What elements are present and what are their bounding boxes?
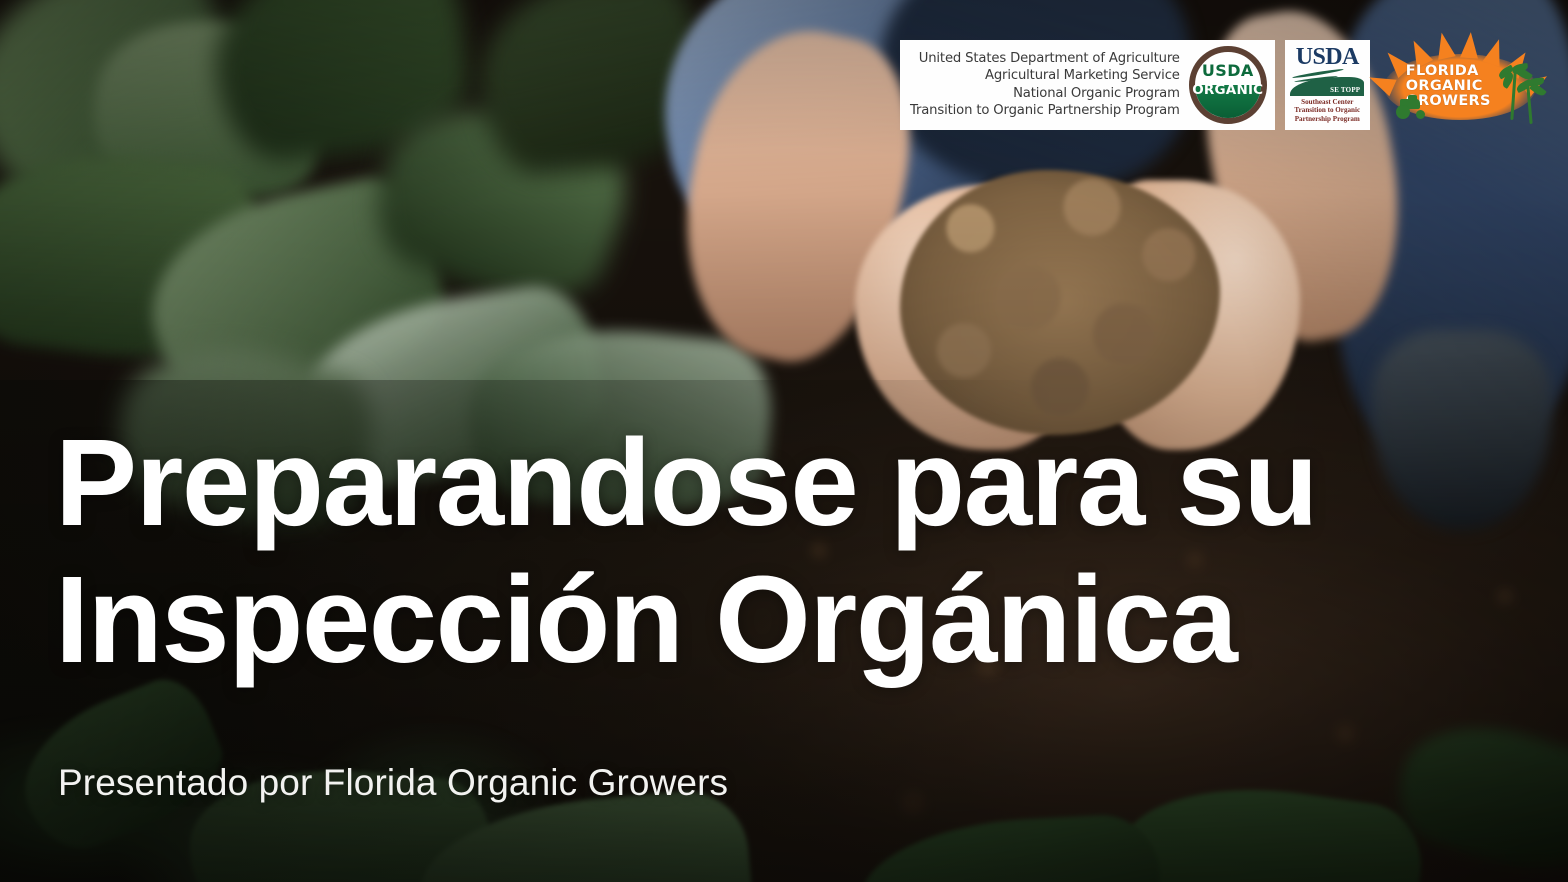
se-topp-line-2: Transition to Organic [1294, 106, 1360, 114]
title-block: Preparandose para su Inspección Orgánica [55, 415, 1475, 689]
florida-organic-growers-logo: FLORIDA ORGANIC GROWERS [1380, 40, 1540, 132]
nop-line-1: United States Department of Agriculture [919, 51, 1180, 68]
se-topp-line-3: Partnership Program [1294, 115, 1360, 123]
presentation-slide: United States Department of Agriculture … [0, 0, 1568, 882]
palm-frond [1529, 82, 1547, 98]
se-topp-badge: SE TOPP [1330, 86, 1360, 94]
nop-line-2: Agricultural Marketing Service [985, 68, 1180, 85]
nop-line-4: Transition to Organic Partnership Progra… [910, 103, 1180, 120]
usda-nop-banner: United States Department of Agriculture … [900, 40, 1275, 130]
seal-usda-text: USDA [1189, 61, 1267, 80]
nop-line-3: National Organic Program [1013, 86, 1180, 103]
fog-line-1: FLORIDA [1406, 64, 1491, 79]
logo-bar: United States Department of Agriculture … [900, 40, 1540, 132]
usda-nop-text: United States Department of Agriculture … [910, 51, 1189, 120]
usda-organic-seal-icon: USDA ORGANIC [1189, 46, 1267, 124]
page-subtitle: Presentado por Florida Organic Growers [58, 760, 728, 806]
palm-tree-icon [1516, 74, 1548, 124]
tractor-rear-wheel [1396, 105, 1410, 119]
se-topp-subtext: Southeast Center Transition to Organic P… [1294, 98, 1360, 123]
page-title: Preparandose para su Inspección Orgánica [55, 415, 1475, 689]
usda-se-topp-logo: USDA SE TOPP Southeast Center Transition… [1285, 40, 1370, 130]
se-topp-usda-wordmark: USDA [1296, 45, 1359, 69]
fog-line-2: ORGANIC [1406, 79, 1491, 94]
palm-trunk [1526, 86, 1532, 124]
seal-organic-text: ORGANIC [1189, 82, 1267, 98]
se-topp-swoosh-icon: SE TOPP [1290, 70, 1364, 96]
tractor-front-wheel [1416, 110, 1425, 119]
se-topp-line-1: Southeast Center [1294, 98, 1360, 106]
tractor-icon [1392, 95, 1432, 119]
